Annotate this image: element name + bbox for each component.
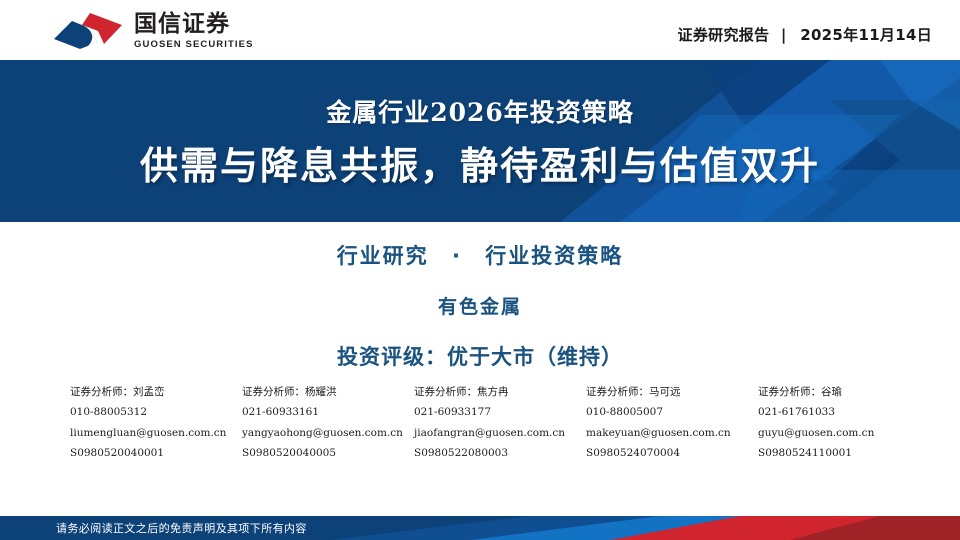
analyst-phone[interactable]: 021-61761033	[758, 402, 930, 422]
research-category-left: 行业研究	[337, 244, 429, 268]
analyst-card: 证券分析师：马可远 010-88005007 makeyuan@guosen.c…	[586, 382, 758, 464]
analyst-list: 证券分析师：刘孟峦 010-88005312 liumengluan@guose…	[70, 382, 898, 464]
analyst-name: 证券分析师：马可远	[586, 382, 758, 402]
brand-name-en: GUOSEN SECURITIES	[134, 40, 254, 50]
middot-separator-icon: ·	[452, 244, 462, 268]
banner-title-group: 金属行业2026年投资策略 供需与降息共振，静待盈利与估值双升	[0, 60, 960, 222]
header-separator: |	[781, 26, 787, 44]
page-header: 国信证券 GUOSEN SECURITIES 证券研究报告 | 2025年11月…	[0, 0, 960, 60]
guosen-chevron-logo-icon	[52, 12, 124, 50]
analyst-email[interactable]: yangyaohong@guosen.com.cn	[242, 423, 414, 443]
analyst-card: 证券分析师：焦方冉 021-60933177 jiaofangran@guose…	[414, 382, 586, 464]
title-banner: 金属行业2026年投资策略 供需与降息共振，静待盈利与估值双升	[0, 60, 960, 222]
analyst-email[interactable]: jiaofangran@guosen.com.cn	[414, 423, 586, 443]
research-category-right: 行业投资策略	[485, 244, 623, 268]
analyst-license: S0980524110001	[758, 443, 930, 463]
analyst-license: S0980520040001	[70, 443, 242, 463]
analyst-email[interactable]: makeyuan@guosen.com.cn	[586, 423, 758, 443]
analyst-phone[interactable]: 021-60933177	[414, 402, 586, 422]
analyst-card: 证券分析师：杨耀洪 021-60933161 yangyaohong@guose…	[242, 382, 414, 464]
investment-rating: 投资评级：优于大市（维持）	[0, 341, 960, 371]
analyst-license: S0980522080003	[414, 443, 586, 463]
report-cover-page: 国信证券 GUOSEN SECURITIES 证券研究报告 | 2025年11月…	[0, 0, 960, 540]
brand-logo: 国信证券 GUOSEN SECURITIES	[52, 12, 254, 50]
analyst-name: 证券分析师：杨耀洪	[242, 382, 414, 402]
analyst-email[interactable]: guyu@guosen.com.cn	[758, 423, 930, 443]
analyst-phone[interactable]: 010-88005007	[586, 402, 758, 422]
analyst-phone[interactable]: 010-88005312	[70, 402, 242, 422]
report-meta-section: 行业研究 · 行业投资策略 有色金属 投资评级：优于大市（维持）	[0, 240, 960, 371]
analyst-email[interactable]: liumengluan@guosen.com.cn	[70, 423, 242, 443]
analyst-license: S0980520040005	[242, 443, 414, 463]
footer-disclaimer: 请务必阅读正文之后的免责声明及其项下所有内容	[0, 516, 960, 540]
analyst-card: 证券分析师：谷瑜 021-61761033 guyu@guosen.com.cn…	[758, 382, 930, 464]
research-category-line: 行业研究 · 行业投资策略	[0, 240, 960, 270]
report-type-label: 证券研究报告	[678, 26, 770, 44]
report-date: 2025年11月14日	[800, 26, 932, 44]
analyst-name: 证券分析师：刘孟峦	[70, 382, 242, 402]
page-footer: 请务必阅读正文之后的免责声明及其项下所有内容	[0, 516, 960, 540]
analyst-name: 证券分析师：焦方冉	[414, 382, 586, 402]
analyst-license: S0980524070004	[586, 443, 758, 463]
brand-logo-text: 国信证券 GUOSEN SECURITIES	[134, 13, 254, 50]
sector-name: 有色金属	[0, 292, 960, 319]
report-subtitle: 供需与降息共振，静待盈利与估值双升	[140, 135, 820, 190]
header-report-meta: 证券研究报告 | 2025年11月14日	[678, 24, 932, 45]
report-title: 金属行业2026年投资策略	[326, 93, 634, 129]
brand-name-cn: 国信证券	[134, 13, 254, 36]
analyst-card: 证券分析师：刘孟峦 010-88005312 liumengluan@guose…	[70, 382, 242, 464]
analyst-name: 证券分析师：谷瑜	[758, 382, 930, 402]
analyst-phone[interactable]: 021-60933161	[242, 402, 414, 422]
